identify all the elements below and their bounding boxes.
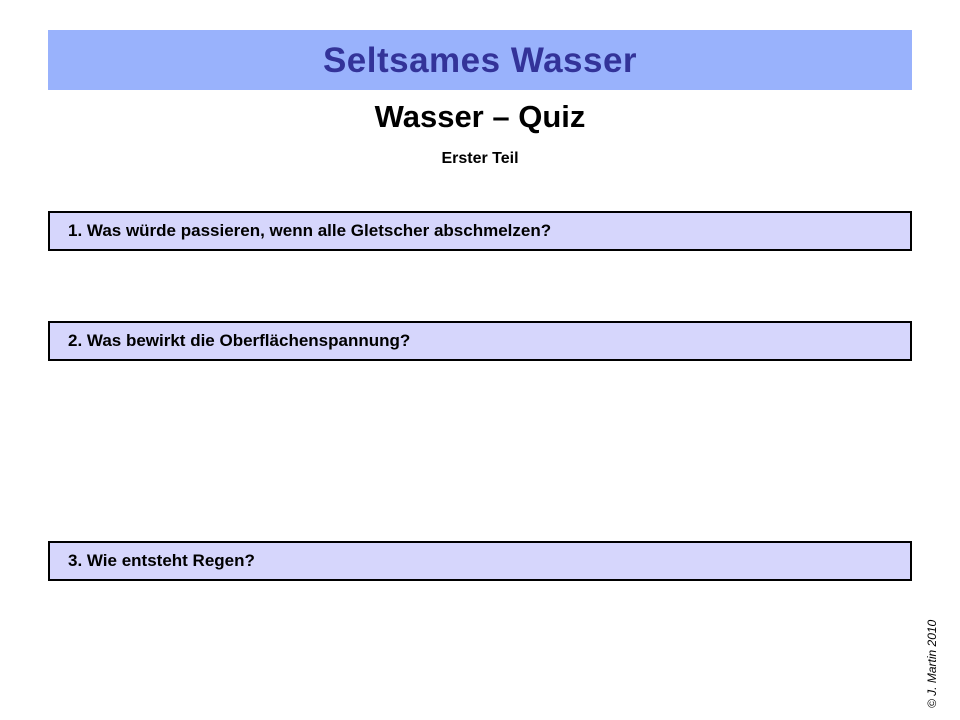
subtitle: Wasser – Quiz [0, 100, 960, 134]
question-text: 3. Wie entsteht Regen? [50, 552, 255, 571]
question-box[interactable]: 2. Was bewirkt die Oberflächenspannung? [48, 321, 912, 361]
slide-canvas: Seltsames Wasser Wasser – Quiz Erster Te… [0, 0, 960, 720]
copyright-text: © J. Martin 2010 [926, 620, 938, 708]
question-text: 2. Was bewirkt die Oberflächenspannung? [50, 332, 410, 351]
title-banner: Seltsames Wasser [48, 30, 912, 90]
section-label: Erster Teil [0, 150, 960, 168]
question-box[interactable]: 3. Wie entsteht Regen? [48, 541, 912, 581]
page-title: Seltsames Wasser [323, 43, 637, 78]
question-text: 1. Was würde passieren, wenn alle Gletsc… [50, 222, 551, 241]
question-box[interactable]: 1. Was würde passieren, wenn alle Gletsc… [48, 211, 912, 251]
copyright-notice: © J. Martin 2010 [938, 588, 958, 708]
